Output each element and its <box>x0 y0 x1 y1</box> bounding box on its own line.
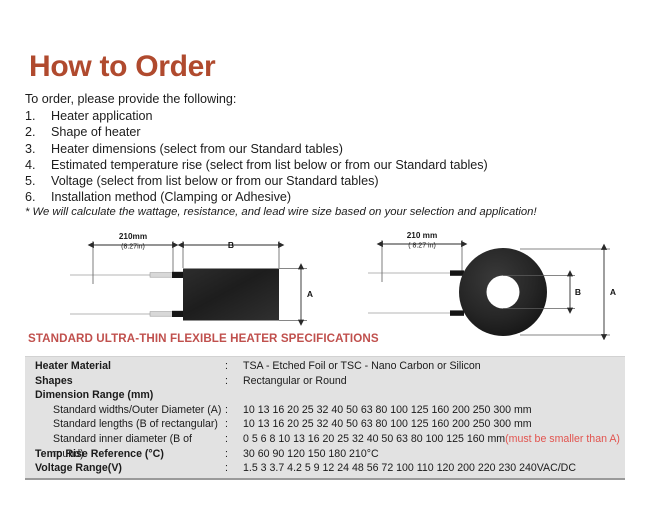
order-steps-list: 1. Heater application 2. Shape of heater… <box>25 108 625 206</box>
heater-diagrams: 210mm (8.27in) B <box>0 228 650 340</box>
spec-label: Dimension Range (mm) <box>25 388 225 403</box>
list-item: 3. Heater dimensions (select from our St… <box>25 141 625 157</box>
round-heater-diagram: 210 mm ( 8.27 in) B <box>368 231 616 336</box>
list-item-label: Installation method (Clamping or Adhesiv… <box>51 189 625 205</box>
dimension-label-b: B <box>575 287 581 297</box>
spec-value: 30 60 90 120 150 180 210°C <box>243 447 625 462</box>
rectangular-heater-diagram: 210mm (8.27in) B <box>70 232 313 321</box>
list-item-number: 2. <box>25 124 51 140</box>
list-item-number: 5. <box>25 173 51 189</box>
dimension-label-a: A <box>610 287 616 297</box>
spec-label: Standard lengths (B of rectangular) <box>25 417 225 432</box>
page-title: How to Order <box>29 52 215 82</box>
table-row: Voltage Range(V) : 1.5 3 3.7 4.2 5 9 12 … <box>25 461 625 476</box>
spec-value: TSA - Etched Foil or TSC - Nano Carbon o… <box>243 359 625 374</box>
lead-length-mm-label: 210 mm <box>407 231 438 240</box>
diagram-svg: 210mm (8.27in) B <box>0 228 650 340</box>
list-item-number: 6. <box>25 189 51 205</box>
spec-value: 10 13 16 20 25 32 40 50 63 80 100 125 16… <box>243 403 625 418</box>
spec-label: Temp Rise Reference (°C) <box>25 447 225 462</box>
spec-colon: : <box>225 447 243 462</box>
table-row: Temp Rise Reference (°C) : 30 60 90 120 … <box>25 447 625 462</box>
inner-diameter-warning: (must be smaller than A) <box>505 433 620 445</box>
spec-table: Heater Material : TSA - Etched Foil or T… <box>25 356 625 480</box>
spec-colon: : <box>225 432 243 447</box>
lead-length-in-label: ( 8.27 in) <box>408 243 436 250</box>
list-item-label: Shape of heater <box>51 124 625 140</box>
table-row: Standard inner diameter (B of round) : 0… <box>25 432 625 447</box>
table-row: Heater Material : TSA - Etched Foil or T… <box>25 359 625 374</box>
spec-label: Shapes <box>25 374 225 389</box>
spec-value: 0 5 6 8 10 13 16 20 25 32 40 50 63 80 10… <box>243 433 505 445</box>
footnote-text: * We will calculate the wattage, resista… <box>25 206 537 218</box>
list-item: 6. Installation method (Clamping or Adhe… <box>25 189 625 205</box>
spec-label: Standard widths/Outer Diameter (A) <box>25 403 225 418</box>
list-item: 2. Shape of heater <box>25 124 625 140</box>
list-item: 4. Estimated temperature rise (select fr… <box>25 157 625 173</box>
spec-colon: : <box>225 359 243 374</box>
spec-colon: : <box>225 403 243 418</box>
intro-text: To order, please provide the following: <box>25 92 236 106</box>
dimension-label-b: B <box>228 240 234 250</box>
spec-label: Voltage Range(V) <box>25 461 225 476</box>
lead-crimp <box>172 272 184 278</box>
lead-length-in-label: (8.27in) <box>121 244 145 251</box>
list-item-label: Voltage (select from list below or from … <box>51 173 625 189</box>
lead-crimp <box>172 311 184 317</box>
lead-crimp <box>450 270 464 275</box>
heater-inner-hole <box>487 276 520 309</box>
table-row: Shapes : Rectangular or Round <box>25 374 625 389</box>
spec-value: Rectangular or Round <box>243 374 625 389</box>
heater-body-rectangular <box>183 269 279 321</box>
dimension-label-a: A <box>307 289 313 299</box>
list-item-label: Estimated temperature rise (select from … <box>51 157 625 173</box>
spec-colon: : <box>225 374 243 389</box>
list-item-number: 4. <box>25 157 51 173</box>
list-item-number: 3. <box>25 141 51 157</box>
list-item: 5. Voltage (select from list below or fr… <box>25 173 625 189</box>
list-item: 1. Heater application <box>25 108 625 124</box>
lead-length-mm-label: 210mm <box>119 232 147 241</box>
spec-colon: : <box>225 461 243 476</box>
page-root: How to Order To order, please provide th… <box>0 0 650 523</box>
list-item-number: 1. <box>25 108 51 124</box>
list-item-label: Heater application <box>51 108 625 124</box>
spec-label: Heater Material <box>25 359 225 374</box>
list-item-label: Heater dimensions (select from our Stand… <box>51 141 625 157</box>
spec-section-header: STANDARD ULTRA-THIN FLEXIBLE HEATER SPEC… <box>28 332 379 345</box>
spec-value: 10 13 16 20 25 32 40 50 63 80 100 125 16… <box>243 417 625 432</box>
lead-crimp <box>450 310 464 315</box>
spec-value: 1.5 3 3.7 4.2 5 9 12 24 48 56 72 100 110… <box>243 461 625 476</box>
spec-colon: : <box>225 417 243 432</box>
table-row: Dimension Range (mm) <box>25 388 625 403</box>
spec-value-with-warning: 0 5 6 8 10 13 16 20 25 32 40 50 63 80 10… <box>243 432 625 447</box>
table-row: Standard widths/Outer Diameter (A) : 10 … <box>25 403 625 418</box>
table-row: Standard lengths (B of rectangular) : 10… <box>25 417 625 432</box>
